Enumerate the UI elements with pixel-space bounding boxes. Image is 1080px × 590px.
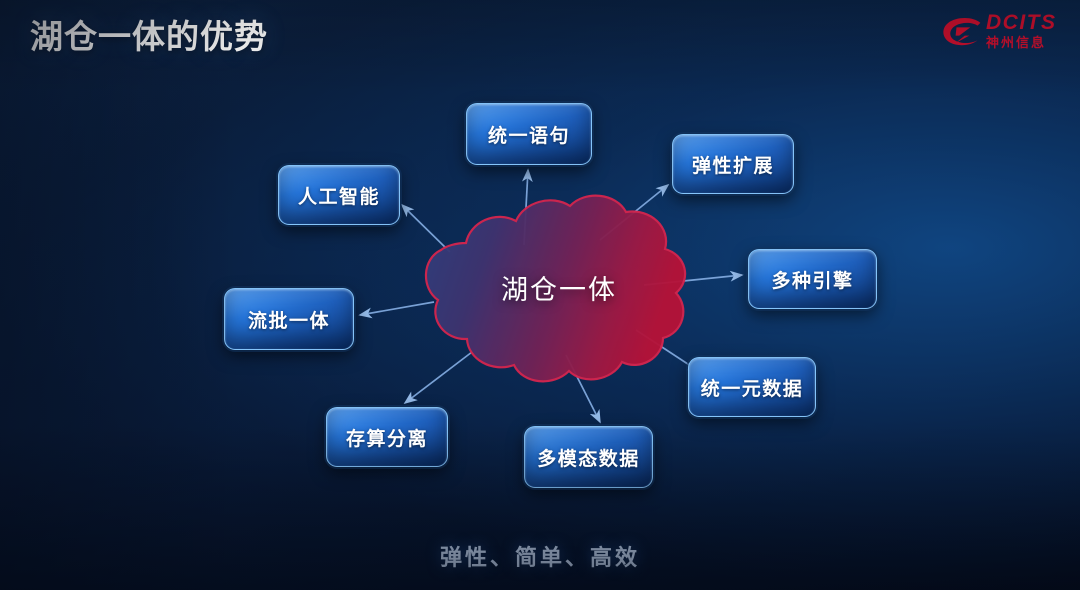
logo-chinese: 神州信息 (986, 35, 1057, 51)
node-label: 多种引擎 (771, 266, 853, 293)
logo-english: DCITS (986, 12, 1057, 33)
node-label: 多模态数据 (537, 444, 640, 471)
node-label: 存算分离 (346, 424, 428, 451)
node-tanxingkuozhan[interactable]: 弹性扩展 (672, 134, 794, 194)
node-duomotaishuju[interactable]: 多模态数据 (524, 426, 653, 488)
page-title: 湖仓一体的优势 (30, 10, 268, 58)
node-liupiyiti[interactable]: 流批一体 (224, 288, 354, 350)
node-duozhongyinqing[interactable]: 多种引擎 (748, 249, 877, 309)
node-rengongzhineng[interactable]: 人工智能 (278, 165, 400, 225)
node-cunsuanfenli[interactable]: 存算分离 (326, 407, 448, 467)
connector-arrows (0, 0, 1080, 590)
slide-root: 湖仓一体 统一语句 弹性扩展 多种引擎 统一元数据 多模态数据 存算分离 流批一… (0, 0, 1080, 590)
node-label: 人工智能 (298, 182, 380, 209)
center-cloud-shape (426, 196, 685, 382)
brand-logo: DCITS 神州信息 (940, 8, 1060, 56)
dcits-swirl-icon (940, 14, 984, 50)
footer-tagline: 弹性、简单、高效 (0, 540, 1080, 572)
node-label: 流批一体 (248, 306, 330, 333)
node-label: 统一元数据 (701, 374, 804, 401)
node-tongyiyuju[interactable]: 统一语句 (466, 103, 592, 165)
node-label: 统一语句 (488, 121, 570, 148)
node-tongyiyuanshuju[interactable]: 统一元数据 (688, 357, 816, 417)
node-label: 弹性扩展 (692, 151, 774, 178)
